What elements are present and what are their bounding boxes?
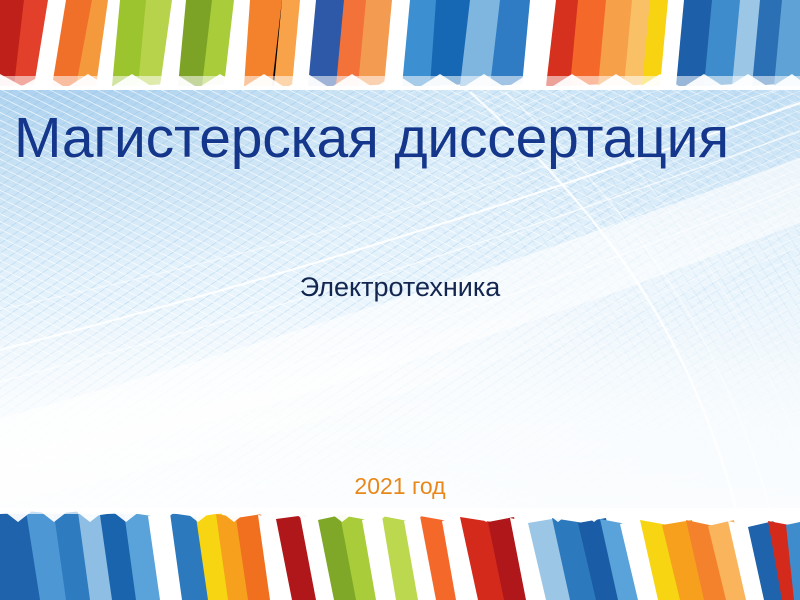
- slide-subtitle: Электротехника: [0, 273, 800, 303]
- geometric-shapes-bottom: [0, 508, 800, 600]
- slide-year: 2021 год: [0, 474, 800, 499]
- presentation-slide: Магистерская диссертация Электротехника …: [0, 0, 800, 600]
- geometric-shapes-top: [0, 0, 800, 90]
- decoration-band-bottom: [0, 508, 800, 600]
- slide-title: Магистерская диссертация: [14, 108, 800, 170]
- decoration-band-top: [0, 0, 800, 90]
